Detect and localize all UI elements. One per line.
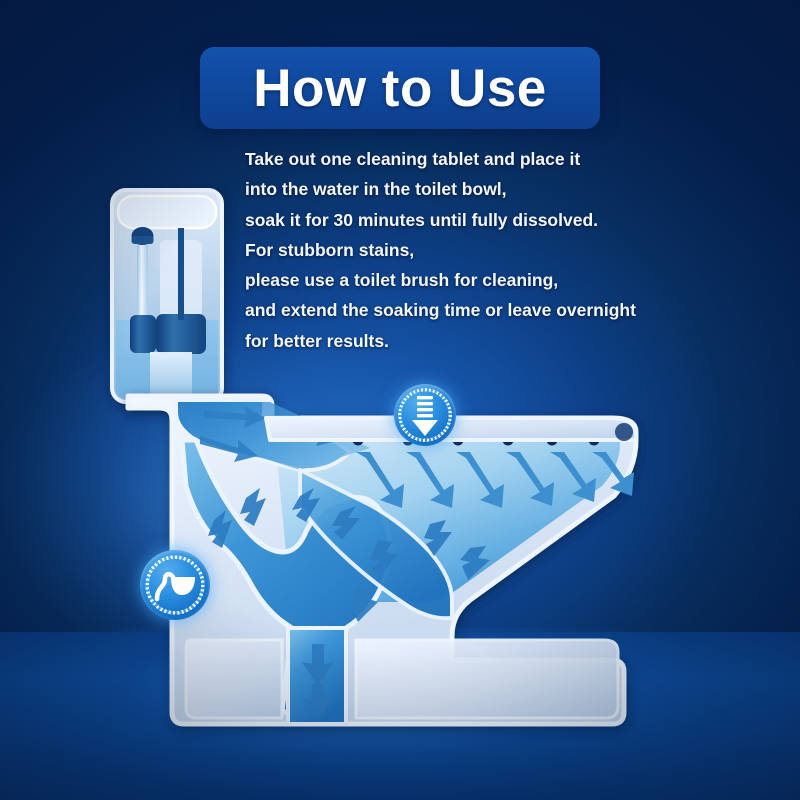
instruction-line-2: into the water in the toilet bowl, — [245, 178, 715, 201]
toilet-trap-icon — [151, 565, 199, 605]
infographic-canvas: How to Use Take out one cleaning tablet … — [0, 0, 800, 800]
instruction-text-block: Take out one cleaning tablet and place i… — [245, 148, 715, 360]
trap-cleaning-badge — [133, 543, 217, 627]
instruction-line-3: soak it for 30 minutes until fully disso… — [245, 209, 715, 232]
drop-tablet-badge — [387, 377, 463, 453]
instruction-line-5: please use a toilet brush for cleaning, — [245, 269, 715, 292]
title-bar: How to Use — [200, 47, 600, 129]
download-arrow-icon — [405, 392, 445, 438]
instruction-line-6: and extend the soaking time or leave ove… — [245, 299, 715, 322]
instruction-line-1: Take out one cleaning tablet and place i… — [245, 148, 715, 171]
page-title: How to Use — [253, 62, 547, 115]
instruction-line-4: For stubborn stains, — [245, 239, 715, 262]
instruction-line-7: for better results. — [245, 330, 715, 353]
